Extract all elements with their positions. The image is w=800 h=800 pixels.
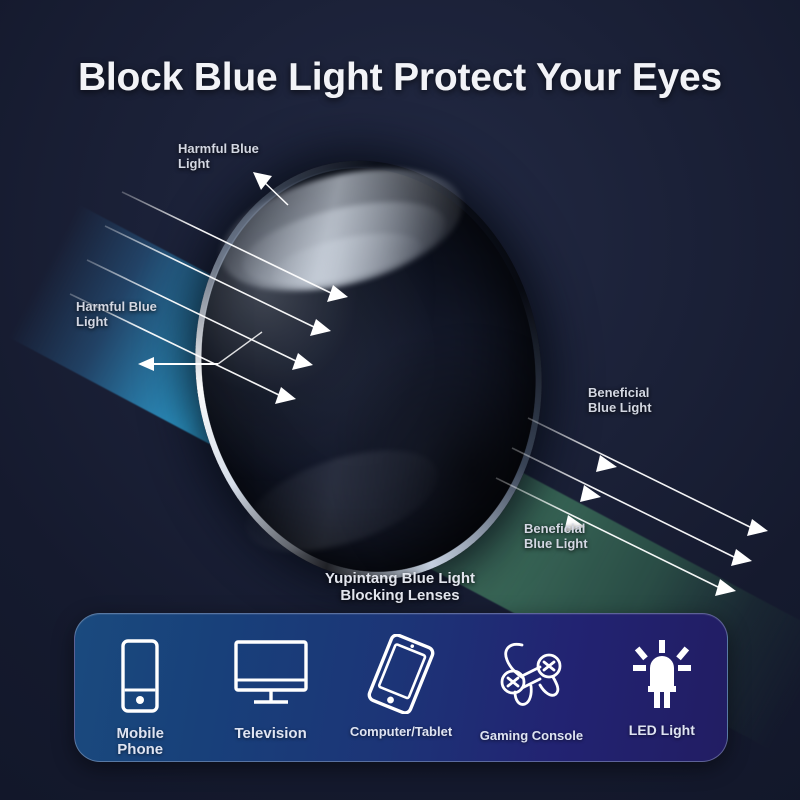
blue-light-blocking-lens: [168, 138, 568, 602]
device-item-computer-tablet[interactable]: Computer/Tablet: [336, 614, 466, 761]
label-harmful-blue-light-left: Harmful Blue Light: [76, 299, 157, 329]
mobile-phone-icon: [115, 638, 165, 714]
gaming-console-icon: [491, 638, 571, 714]
device-label-gaming-console: Gaming Console: [480, 728, 583, 744]
blue-light-sources-panel: Mobile Phone Television: [74, 613, 728, 762]
computer-tablet-icon: [362, 634, 440, 714]
label-beneficial-blue-light-top: Beneficial Blue Light: [588, 385, 652, 415]
device-label-computer-tablet: Computer/Tablet: [350, 724, 452, 740]
led-light-icon: [628, 640, 696, 710]
device-item-led-light[interactable]: LED Light: [597, 614, 727, 761]
label-product-name: Yupintang Blue Light Blocking Lenses: [0, 570, 800, 604]
device-item-mobile-phone[interactable]: Mobile Phone: [75, 614, 205, 761]
device-item-gaming-console[interactable]: Gaming Console: [466, 614, 596, 761]
device-label-led-light: LED Light: [629, 722, 695, 738]
infographic-canvas: Block Blue Light Protect Your Eyes: [0, 0, 800, 800]
label-harmful-blue-light-top: Harmful Blue Light: [178, 141, 259, 171]
television-icon: [232, 638, 310, 710]
device-label-mobile-phone: Mobile Phone: [116, 726, 164, 758]
label-beneficial-blue-light-bottom: Beneficial Blue Light: [524, 521, 588, 551]
page-title: Block Blue Light Protect Your Eyes: [0, 56, 800, 100]
device-item-television[interactable]: Television: [205, 614, 335, 761]
device-label-television: Television: [234, 726, 306, 742]
device-list: Mobile Phone Television: [75, 614, 727, 761]
lens-rim: [168, 138, 568, 602]
